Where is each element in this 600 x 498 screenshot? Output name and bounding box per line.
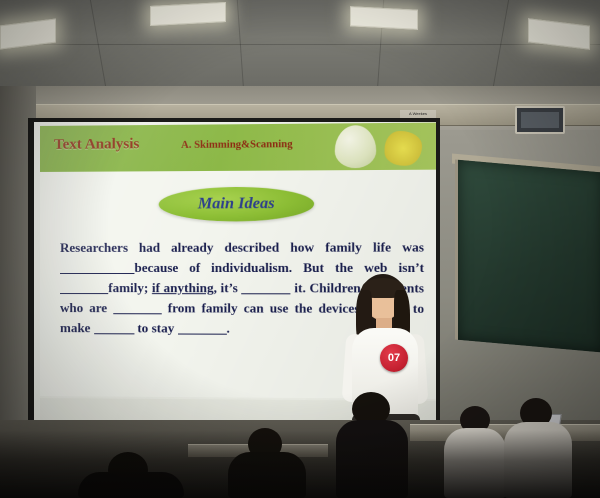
ceiling-light-icon [350,6,418,30]
wall-sticker: A Weekes [400,110,436,118]
ceiling-tile-line [90,0,107,92]
underlined-phrase: if anything [152,280,214,295]
side-blackboard [455,160,600,353]
wall-control-panel[interactable] [515,106,565,134]
slide-subtitle: A. Skimming&Scanning [181,139,293,151]
number-badge-label: 07 [380,344,408,372]
foreground-shadow [0,430,600,498]
leaf-graphic-icon [385,131,423,166]
ceiling-tile-line [237,0,244,92]
ceiling [0,0,600,92]
wall-control-panel-screen [521,112,559,128]
ceiling-light-icon [528,18,590,50]
ceiling-tile-line [492,0,509,92]
fill-in-blank [113,300,162,314]
fill-in-blank [60,280,108,294]
fill-in-blank [60,260,134,274]
fill-in-blank [241,280,290,294]
main-ideas-badge: Main Ideas [159,187,314,222]
egg-graphic-icon [335,125,376,168]
number-badge: 07 [380,344,408,372]
ceiling-tile-line [0,44,600,45]
main-ideas-label: Main Ideas [159,187,314,222]
classroom-photo: A Weekes Text Analysis A. Skimming&Scann… [0,0,600,498]
slide-title: Text Analysis [54,136,139,154]
ceiling-light-icon [150,2,226,26]
fill-in-blank [178,320,227,334]
slide-header: Text Analysis A. Skimming&Scanning [40,123,436,172]
fill-in-blank [94,320,134,334]
